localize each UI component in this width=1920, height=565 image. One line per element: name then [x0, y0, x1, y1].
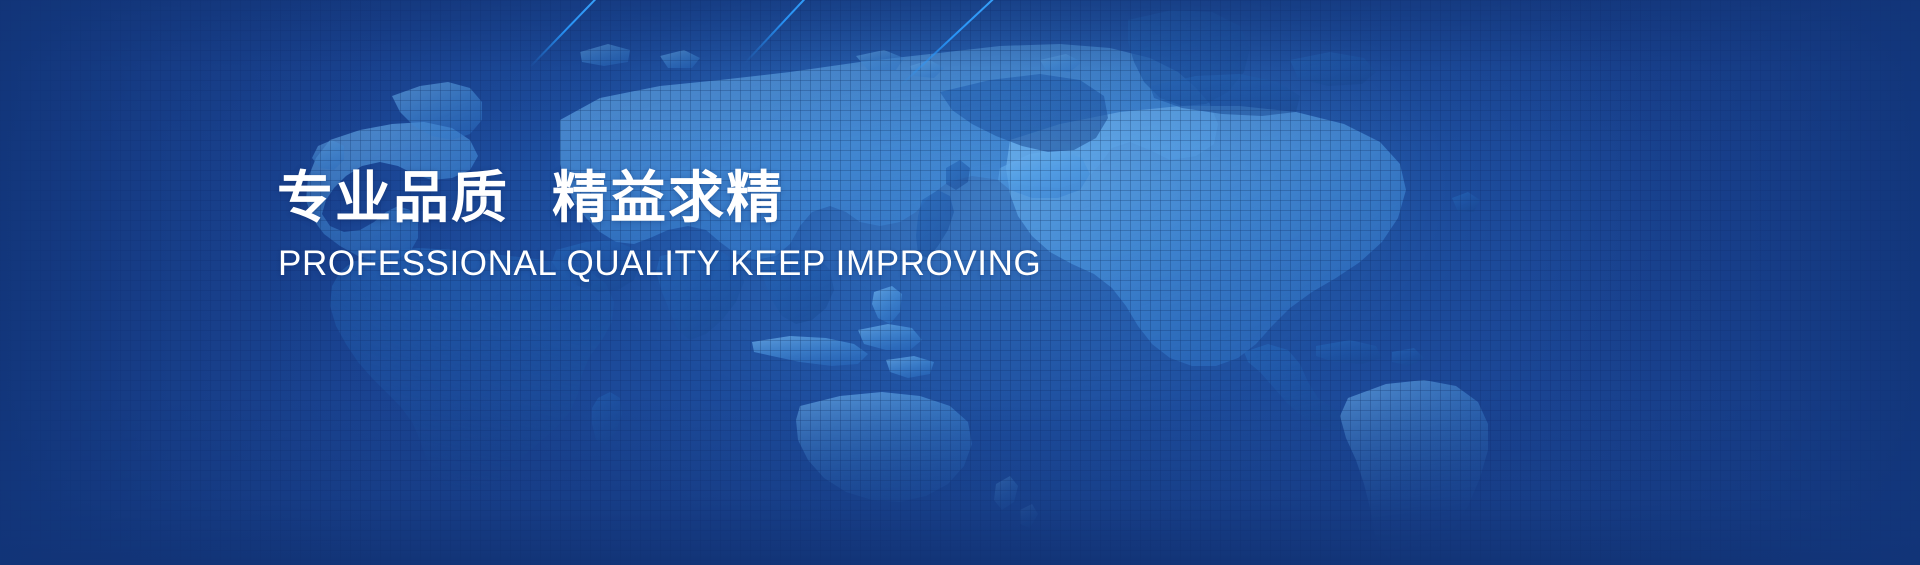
subheadline-english: PROFESSIONAL QUALITY KEEP IMPROVING: [278, 245, 1177, 284]
diagonal-streak-icon: [899, 0, 1134, 87]
hero-banner: 专业品质 精益求精 PROFESSIONAL QUALITY KEEP IMPR…: [0, 0, 1920, 565]
headline-chinese: 专业品质 精益求精: [277, 168, 1177, 231]
slogan-block: 专业品质 精益求精 PROFESSIONAL QUALITY KEEP IMPR…: [277, 168, 1177, 283]
diagonal-streak-icon: [744, 0, 923, 64]
diagonal-streak-icon: [529, 0, 690, 68]
